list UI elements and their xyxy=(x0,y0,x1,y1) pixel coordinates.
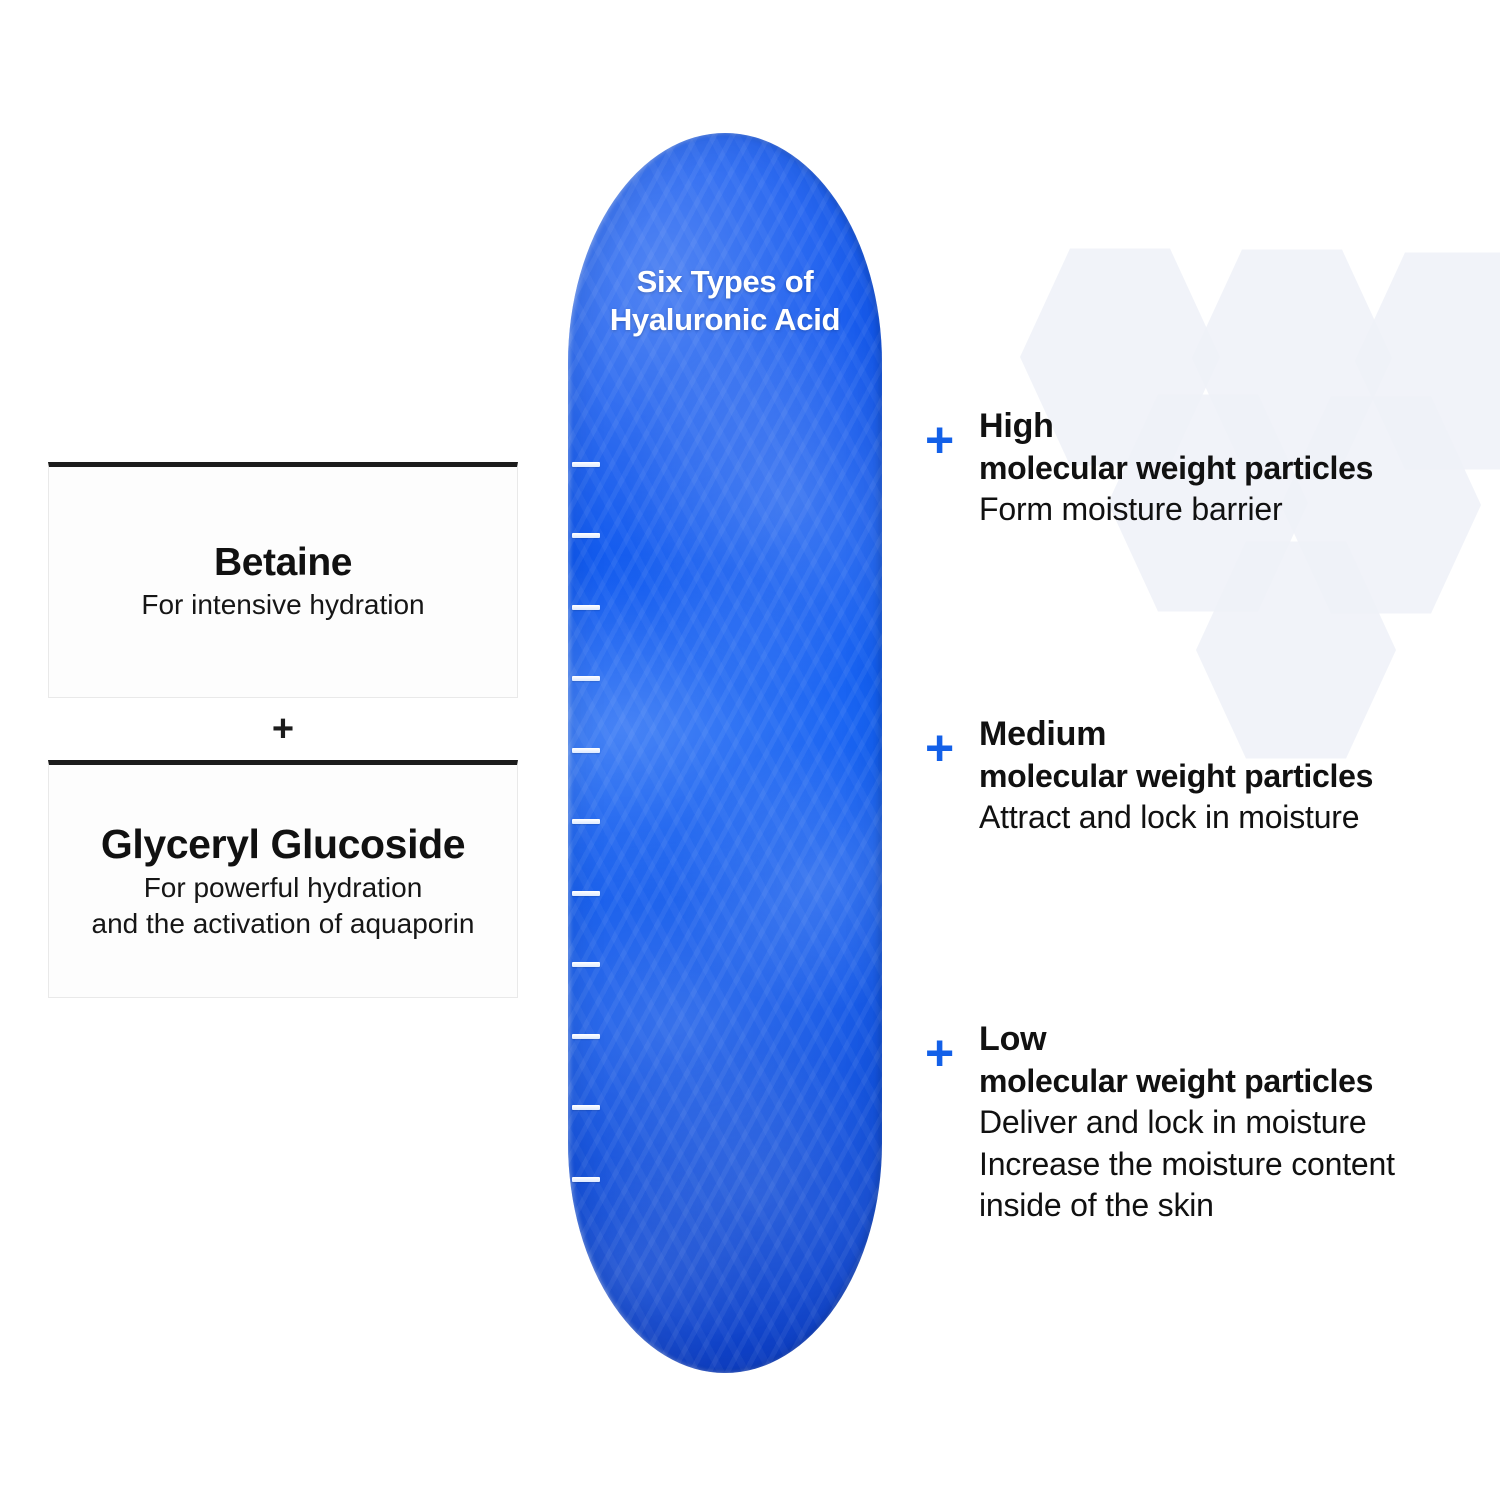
feature-subtitle: molecular weight particles xyxy=(979,1061,1395,1103)
ingredient-name: Glyceryl Glucoside xyxy=(101,821,465,868)
scale-tick xyxy=(572,1105,600,1110)
feature-detail-line: Attract and lock in moisture xyxy=(979,797,1373,839)
plus-bullet-icon: + xyxy=(925,415,979,465)
feature-text-body: Low molecular weight particles Deliver a… xyxy=(979,1018,1395,1227)
scale-tick xyxy=(572,462,600,467)
feature-subtitle: molecular weight particles xyxy=(979,756,1373,798)
scale-tick xyxy=(572,1034,600,1039)
ingredient-card-betaine: Betaine For intensive hydration xyxy=(48,462,518,698)
feature-block-medium: + Medium molecular weight particles Attr… xyxy=(925,713,1373,839)
scale-tick xyxy=(572,891,600,896)
plus-bullet-icon: + xyxy=(925,1028,979,1078)
feature-detail-line: Increase the moisture content xyxy=(979,1144,1395,1186)
hyaluronic-acid-bar: Six Types of Hyaluronic Acid xyxy=(568,133,882,1373)
ingredient-description-line: For intensive hydration xyxy=(141,587,424,623)
infographic-canvas: Six Types of Hyaluronic Acid Betaine For… xyxy=(0,0,1500,1500)
scale-tick xyxy=(572,533,600,538)
feature-block-high: + High molecular weight particles Form m… xyxy=(925,405,1373,531)
bar-title-line-2: Hyaluronic Acid xyxy=(568,301,882,339)
scale-tick xyxy=(572,748,600,753)
feature-detail-line: Deliver and lock in moisture xyxy=(979,1102,1395,1144)
feature-level-label: Medium xyxy=(979,713,1373,756)
feature-subtitle: molecular weight particles xyxy=(979,448,1373,490)
feature-block-low: + Low molecular weight particles Deliver… xyxy=(925,1018,1395,1227)
scale-tick xyxy=(572,676,600,681)
feature-level-label: High xyxy=(979,405,1373,448)
ingredient-card-glyceryl-glucoside: Glyceryl Glucoside For powerful hydratio… xyxy=(48,760,518,998)
scale-tick xyxy=(572,819,600,824)
ingredient-name: Betaine xyxy=(214,541,352,585)
hexagon-icon xyxy=(1355,248,1500,474)
scale-tick xyxy=(572,1177,600,1182)
scale-tick xyxy=(572,962,600,967)
ingredient-description-line: For powerful hydration xyxy=(144,870,423,906)
scale-tick xyxy=(572,605,600,610)
plus-connector-icon: + xyxy=(48,700,518,758)
feature-level-label: Low xyxy=(979,1018,1395,1061)
bar-title-line-1: Six Types of xyxy=(568,263,882,301)
feature-text-body: High molecular weight particles Form moi… xyxy=(979,405,1373,531)
plus-bullet-icon: + xyxy=(925,723,979,773)
feature-detail-line: Form moisture barrier xyxy=(979,489,1373,531)
feature-detail-line: inside of the skin xyxy=(979,1185,1395,1227)
bar-title: Six Types of Hyaluronic Acid xyxy=(568,263,882,339)
ingredient-description-line: and the activation of aquaporin xyxy=(92,906,475,942)
feature-text-body: Medium molecular weight particles Attrac… xyxy=(979,713,1373,839)
